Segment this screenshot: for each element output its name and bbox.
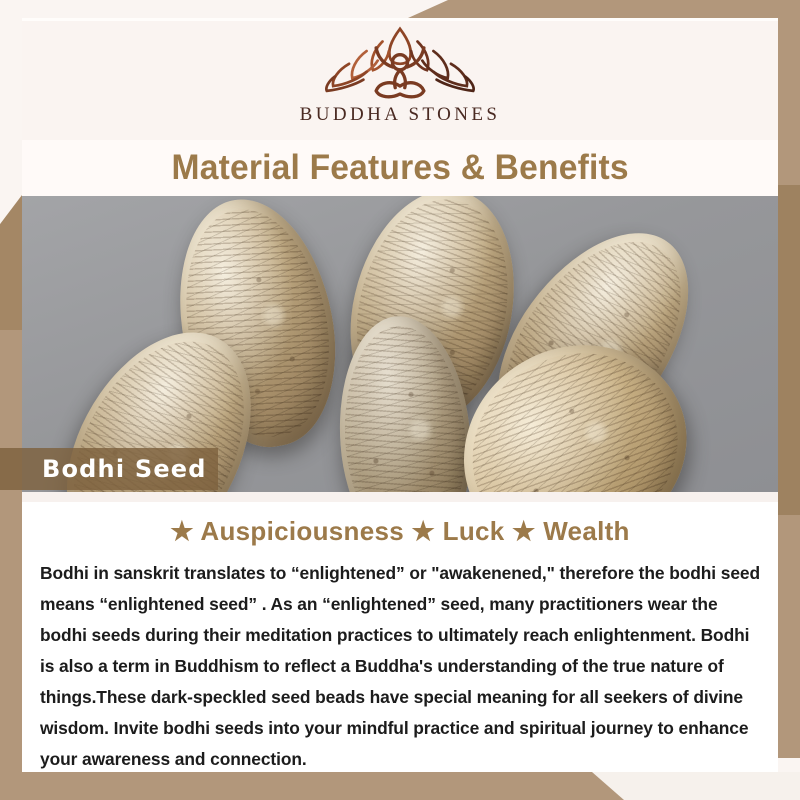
description-paragraph: Bodhi in sanskrit translates to “enlight…	[40, 558, 762, 775]
frame-right-shade	[778, 185, 800, 515]
lotus-meditation-figure-icon	[320, 24, 480, 102]
photo-caption-chip: Bodhi Seed	[0, 448, 218, 490]
brand-header: BUDDHA STONES	[22, 18, 778, 140]
frame-left-lower-band	[0, 330, 22, 778]
page-title: Material Features & Benefits	[171, 148, 628, 188]
photo-caption-label: Bodhi Seed	[42, 455, 207, 483]
frame-top-highlight	[22, 18, 778, 21]
frame-top-band	[0, 0, 800, 18]
poster-canvas: BUDDHA STONES Material Features & Benefi…	[0, 0, 800, 800]
brand-name: BUDDHA STONES	[300, 104, 501, 126]
title-banner: Material Features & Benefits	[22, 140, 778, 196]
section-tint-strip	[22, 492, 778, 502]
description-section: ★ Auspiciousness ★ Luck ★ Wealth Bodhi i…	[22, 492, 778, 772]
benefits-headline: ★ Auspiciousness ★ Luck ★ Wealth	[22, 516, 778, 547]
